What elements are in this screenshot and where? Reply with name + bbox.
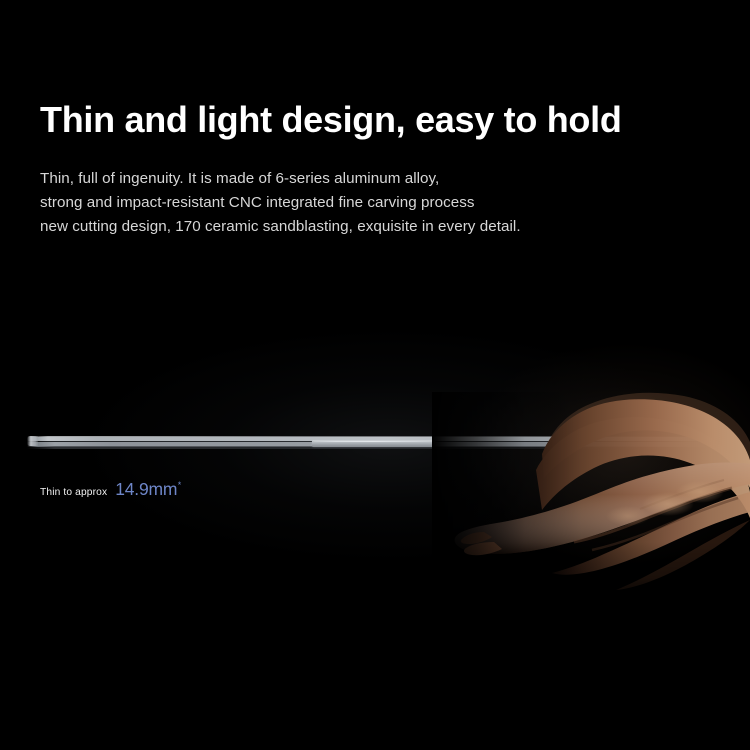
ambient-glow-product	[0, 300, 750, 630]
thickness-value: 14.9mm	[115, 479, 177, 500]
footnote-asterisk: *	[178, 480, 182, 490]
ambient-glow-hand	[360, 340, 750, 640]
laptop-right-falloff	[670, 434, 728, 450]
fingers-over-edge	[536, 392, 750, 518]
page-title: Thin and light design, easy to hold	[40, 99, 622, 141]
hand-holding-laptop	[432, 392, 750, 607]
thickness-callout: Thin to approx 14.9mm *	[40, 479, 181, 500]
laptop-specular-highlight	[27, 436, 722, 437]
description-line-3: new cutting design, 170 ceramic sandblas…	[40, 215, 521, 239]
description-text: Thin, full of ingenuity. It is made of 6…	[40, 167, 521, 239]
laptop-side-profile	[27, 434, 722, 450]
product-marketing-image: Thin and light design, easy to hold Thin…	[0, 0, 750, 750]
laptop-left-chamfer	[27, 436, 38, 446]
thickness-label: Thin to approx	[40, 487, 107, 498]
description-line-2: strong and impact-resistant CNC integrat…	[40, 191, 521, 215]
laptop-hinge-highlight	[314, 441, 433, 443]
palm	[455, 463, 750, 591]
description-line-1: Thin, full of ingenuity. It is made of 6…	[40, 167, 521, 191]
